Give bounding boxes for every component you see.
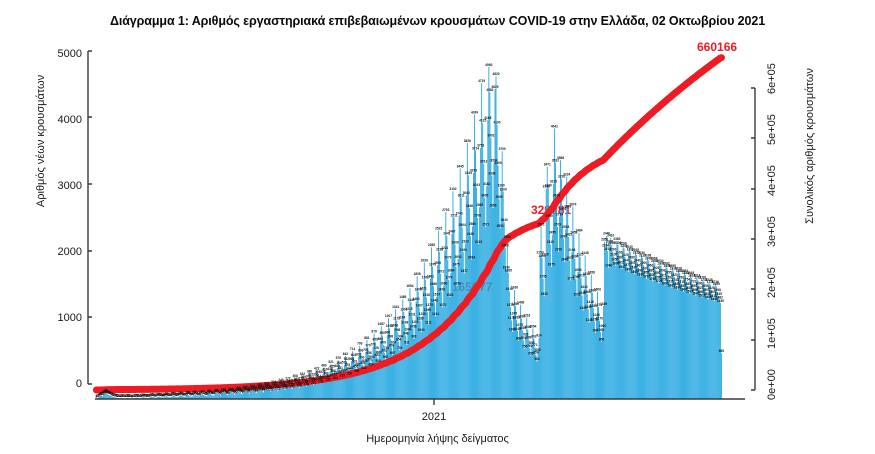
bar-value-label: 1341 [392,305,399,309]
bar [446,236,447,399]
bar-value-label: 3379 [470,169,477,173]
bar [706,292,707,399]
bar [547,167,548,399]
bar [666,266,667,399]
bar [690,275,691,399]
bar [233,394,234,399]
bar [615,266,616,399]
bar-value-label: 2700 [546,214,553,218]
bar [643,265,644,399]
bar [448,280,449,399]
bar-value-label: 3160 [545,183,552,187]
bar [384,353,385,399]
bar [522,330,523,399]
bar [450,273,451,399]
bar-value-label: 592 [383,355,389,359]
bar [419,308,420,399]
bar [542,258,543,399]
bar [299,388,300,399]
bar-value-label: 1207 [385,314,392,318]
bar [577,297,578,399]
bar [594,322,595,400]
bar [449,297,450,399]
bar-value-label: 1621 [420,286,427,290]
bar [645,275,646,399]
bar [603,306,604,399]
bar-value-label: 3100 [500,187,507,191]
bar [241,394,242,399]
bar [479,207,480,399]
bar [433,286,434,399]
bar-value-label: 793 [357,342,363,346]
bar [539,338,540,399]
bar-value-label: 3445 [457,164,464,168]
bar [292,389,293,399]
bar [463,252,464,399]
bar [582,295,583,399]
bar-value-label: 657 [390,351,396,355]
bar [398,342,399,399]
bar [656,275,657,399]
bar [700,294,701,399]
bar [713,298,714,399]
bar-value-label: 3009 [553,193,560,197]
bar-value-label: 948 [403,331,409,335]
bar [686,282,687,399]
bar [684,273,685,399]
bar [491,176,492,399]
bar [626,262,627,399]
bar [650,273,651,399]
bar [475,150,476,399]
bar [653,261,654,399]
bar [691,278,692,399]
bar [511,320,512,399]
bar [405,336,406,399]
bar [611,245,612,399]
bar [610,238,611,399]
bar-value-label: 2856 [489,204,496,208]
bar-value-label: 2092 [455,255,462,259]
bar-value-label: 1686 [430,282,437,286]
bar [447,260,448,399]
bar-value-label: 3215 [550,180,557,184]
bar [636,255,637,399]
bar [635,252,636,399]
bar-value-label: 4960 [485,63,492,67]
bar-value-label: 3490 [495,161,502,165]
bar [711,290,712,399]
bar [683,292,684,399]
bar [360,353,361,399]
bar-value-label: 2194 [568,248,575,252]
bar [509,291,510,399]
bar [663,278,664,399]
bar-value-label: 1654 [406,284,413,288]
bar [368,347,369,399]
bar-value-label: 856 [599,338,605,342]
bar [387,335,388,399]
bar [486,186,487,399]
bar-value-label: 1696 [440,281,447,285]
bar [710,284,711,399]
bar [593,308,594,399]
bar [498,165,499,399]
bar-value-label: 881 [364,336,370,340]
bar-value-label: 1975 [548,263,555,267]
bar-value-label: 2000 [434,261,441,265]
bar [632,265,633,399]
bar-value-label: 533 [376,359,382,363]
bar-value-label: 2793 [442,208,449,212]
bar [427,312,428,399]
bar-value-label: 1442 [431,298,438,302]
bar [569,260,570,399]
bar [518,341,519,399]
bar [718,296,719,399]
bar-value-label: 1299 [424,308,431,312]
bar [464,273,465,399]
bar [715,284,716,399]
plot-area: 8142231455241667895817063584941363025211… [0,0,875,454]
bar-value-label: 1640 [581,285,588,289]
bar [587,294,588,399]
bar-value-label: 1115 [412,320,419,324]
bar-value-label: 1000 [418,328,425,332]
bar [510,307,511,399]
bar [634,274,635,399]
bar-value-label: 1522 [446,293,453,297]
bar-value-label: 480 [368,363,374,367]
bar-value-label: 1054 [529,324,536,328]
bar-value-label: 1896 [574,268,581,272]
bar-value-label: 1435 [717,299,724,303]
bar [709,282,710,399]
bar-value-label: 1001 [597,328,604,332]
bar-value-label: 1408 [517,301,524,305]
bar [485,227,486,399]
bar [600,332,601,399]
bar [687,286,688,399]
bar [471,260,472,399]
bar-value-label: 1690 [454,282,461,286]
bar-value-label: 3513 [480,160,487,164]
bar-value-label: 714 [350,347,356,351]
bar-value-label: 4100 [493,120,500,124]
bar [670,284,671,399]
bar [688,290,689,399]
bar-value-label: 1527 [433,293,440,297]
bar [495,89,496,399]
bar-value-label: 2573 [554,223,561,227]
bar [524,349,525,399]
bar [477,218,478,399]
bar [661,266,662,399]
bar-value-label: 1858 [588,270,595,274]
bar-value-label: 1375 [426,303,433,307]
bar-value-label: 2323 [462,239,469,243]
bar [520,305,521,399]
bar [599,321,600,399]
bar-value-label: 2484 [575,229,582,233]
bar [439,252,440,399]
bar-value-label: 1184 [398,316,405,320]
bar [591,275,592,399]
bar [305,384,306,399]
bar [565,229,566,399]
bar [708,299,709,399]
bar [685,275,686,399]
bar [521,319,522,399]
bar-value-label: 2221 [441,246,448,250]
bar [550,244,551,399]
bar [489,92,490,399]
bar [566,177,567,399]
bar [606,236,607,399]
bar [320,384,321,399]
bar-value-label: 2200 [555,248,562,252]
bar [528,340,529,399]
bar-value-label: 1389 [600,302,607,306]
bar-value-label: 2455 [549,231,556,235]
bar-value-label: 2740 [456,211,463,215]
bar [391,348,392,399]
bar-value-label: 4041 [551,124,558,128]
bar [442,307,443,399]
bar [556,198,557,399]
bar [675,282,676,399]
bar-value-label: 3163 [473,183,480,187]
bar [255,392,256,399]
bar [644,271,645,399]
bar [291,387,292,399]
bar [612,252,613,399]
bar-value-label: 979 [371,329,377,333]
bar-value-label: 230 [318,379,324,383]
bar [628,272,629,399]
bar-value-label: 1060 [599,324,606,328]
bar-value-label: 1877 [461,269,468,273]
bar-value-label: 2436 [467,232,474,236]
bar [306,387,307,399]
bar [457,286,458,399]
bar [533,339,534,399]
bar [319,381,320,399]
bar [607,251,608,399]
bar-value-label: 914 [536,334,542,338]
bar [647,258,648,399]
bar [499,199,500,399]
bar-value-label: 2848 [466,204,473,208]
bar [697,280,698,399]
bar [504,222,505,399]
bar [514,290,515,399]
bar-value-label: 998 [395,328,401,332]
bar [627,267,628,399]
bar-value-label: 2128 [542,252,549,256]
chart-figure: Διάγραμμα 1: Αριθμός εργαστηριακά επιβεβ… [0,0,875,454]
bar [440,274,441,399]
bar [689,294,690,399]
bar-value-label: 730 [397,346,403,350]
bar [397,332,398,399]
bar [478,244,479,399]
bar-value-label: 1606 [594,287,601,291]
bar [717,292,718,399]
bar-value-label: 1518 [423,293,430,297]
bar [642,258,643,399]
bar-value-label: 1630 [511,286,518,290]
bar [558,252,559,399]
bar-value-label: 698 [535,348,541,352]
bar [465,244,466,399]
bar-value-label: 4719 [478,79,485,83]
bar-value-label: 1169 [417,317,424,321]
bar [580,257,581,399]
bar [497,125,498,399]
bar-value-label: 579 [336,356,342,360]
bar [692,284,693,399]
bar [620,260,621,399]
bar [455,244,456,399]
bar-value-label: 1234 [432,312,439,316]
bar-value-label: 1779 [445,276,452,280]
bar-value-label: 2315 [475,240,482,244]
bar [654,263,655,399]
bar [493,208,494,399]
bar [695,296,696,399]
bar-value-label: 809 [381,341,387,345]
bar [674,277,675,399]
bar [703,280,704,399]
bar-value-label: 4249 [471,110,478,114]
bar-value-label: 1975 [453,263,460,267]
bar [662,273,663,399]
bar-value-label: 4629 [491,85,498,89]
bar-value-label: 3753 [477,144,484,148]
bar [568,237,569,399]
bar [262,391,263,399]
bar [484,198,485,399]
bar [667,268,668,399]
bar [704,282,705,399]
bar [613,256,614,399]
bar [552,235,553,399]
bar-value-label: 2309 [451,240,458,244]
bar [536,355,537,399]
bar [699,290,700,399]
bar [470,236,471,399]
bar-value-label: 1885 [505,269,512,273]
bar [619,254,620,399]
bar-value-label: 4168 [484,116,491,120]
bar [328,382,329,399]
bar-value-label: 4820 [492,72,499,76]
bar-value-label: 2148 [582,251,589,255]
bar [652,281,653,399]
bar-value-label: 284 [332,376,338,380]
bar-value-label: 2538 [562,225,569,229]
bar [515,306,516,399]
bar-value-label: 3005 [481,194,488,198]
bar [249,394,250,399]
bar [694,292,695,399]
bar [680,279,681,399]
bar-value-label: 898 [388,335,394,339]
bar-value-label: 771 [532,343,538,347]
bar [651,277,652,399]
bar [494,162,495,399]
bar-value-label: 2874 [569,202,576,206]
bar [413,329,414,399]
bar [641,255,642,399]
bar-value-label: 2571 [538,223,545,227]
bar [342,378,343,399]
bar [529,348,530,399]
bar [595,333,596,399]
bar-value-label: 1535 [541,292,548,296]
bar [462,227,463,399]
bar-value-label: 315 [340,374,346,378]
bar [240,393,241,399]
bar [496,76,497,399]
bar [349,376,350,399]
y-axis-left-spine [88,51,92,384]
bar [655,270,656,399]
bar-value-label: 350 [347,371,353,375]
bar-value-label: 3043 [463,191,470,195]
bar-value-label: 3324 [563,172,570,176]
bar [256,393,257,399]
bar [601,342,602,399]
bar [585,255,586,399]
bar-value-label: 1836 [414,272,421,276]
bar [426,297,427,399]
bar [572,207,573,399]
bar [369,355,370,399]
bar [383,345,384,399]
bar-value-label: 3826 [464,139,471,143]
bar-value-label: 3902 [487,134,494,138]
bar [335,380,336,399]
bar [712,294,713,399]
bar-value-label: 728 [373,346,379,350]
bar-value-label: 2553 [497,224,504,228]
bar [673,271,674,399]
bar-value-label: 811 [404,341,409,345]
bar-value-label: 256 [325,378,331,382]
bar [696,278,697,399]
bar [672,268,673,399]
bar [269,390,270,399]
bar [698,286,699,399]
bar [621,264,622,399]
bar [472,226,473,399]
bar [705,288,706,399]
bar [570,280,571,399]
bar [313,385,314,399]
bar [312,383,313,399]
bar [461,197,462,399]
bar [682,288,683,399]
bar [660,263,661,399]
bar [298,386,299,399]
bar [658,283,659,399]
bar [638,268,639,399]
bar-value-label: 521 [328,360,334,364]
bar [559,217,560,399]
bar [412,317,413,399]
